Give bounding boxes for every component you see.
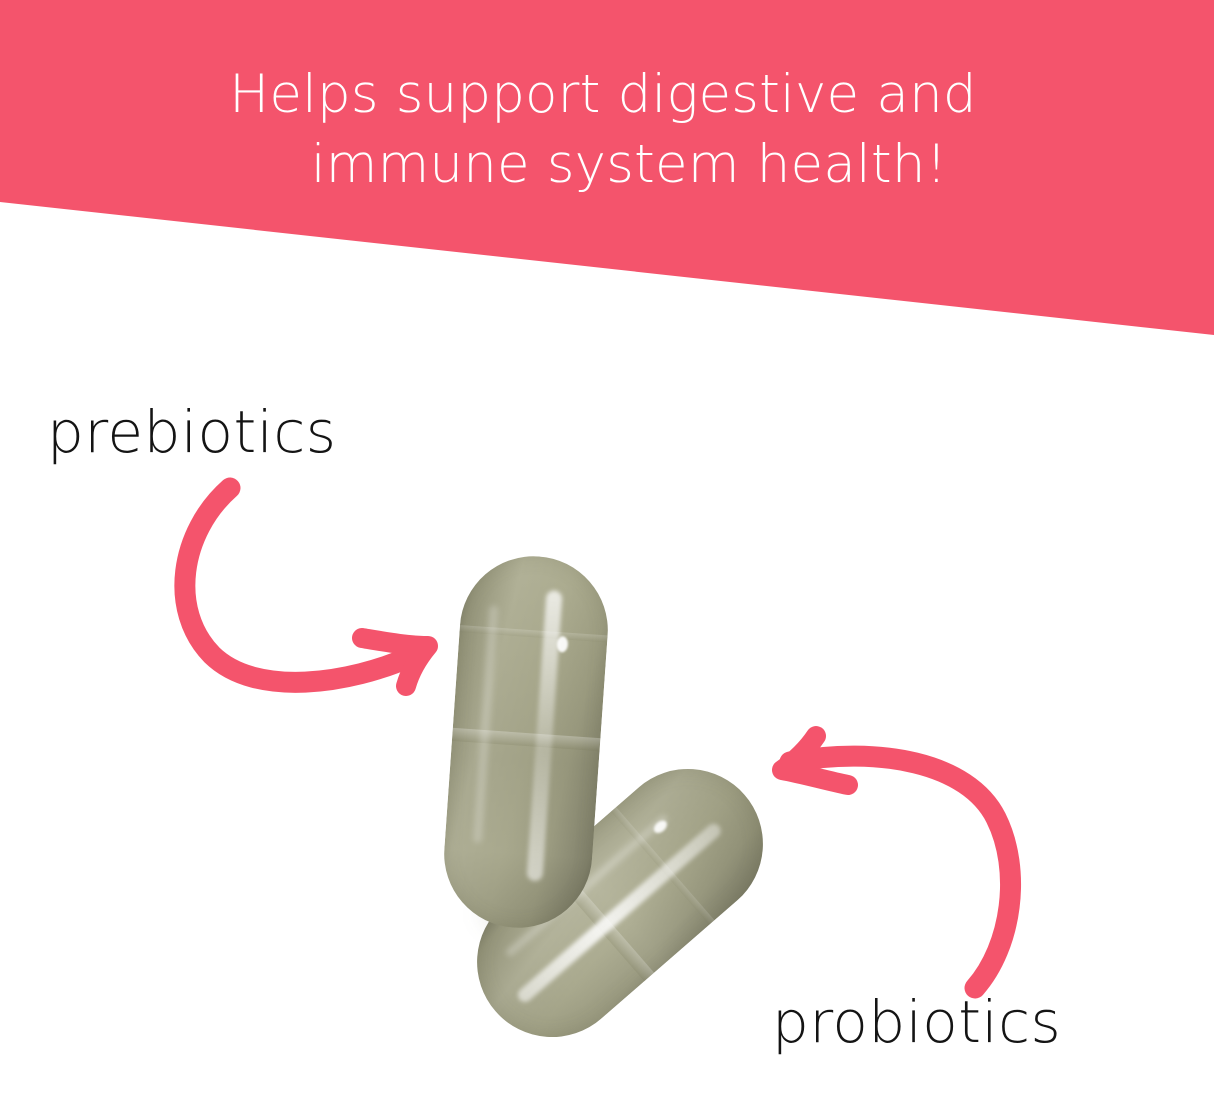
headline-banner	[0, 0, 1214, 340]
product-infographic: Helps support digestive and immune syste…	[0, 0, 1214, 1093]
capsule-seam	[446, 727, 606, 751]
capsule-cap-edge	[454, 625, 613, 643]
callout-label-prebiotics: prebiotics	[47, 398, 336, 466]
capsule-upright	[439, 551, 613, 932]
curved-arrow-icon-probiotics	[760, 730, 1040, 1000]
capsule-secondary-highlight	[473, 605, 499, 843]
callout-label-probiotics: probiotics	[772, 988, 1061, 1056]
curved-arrow-icon-prebiotics	[160, 470, 460, 710]
capsule-specular-dot	[556, 636, 568, 653]
